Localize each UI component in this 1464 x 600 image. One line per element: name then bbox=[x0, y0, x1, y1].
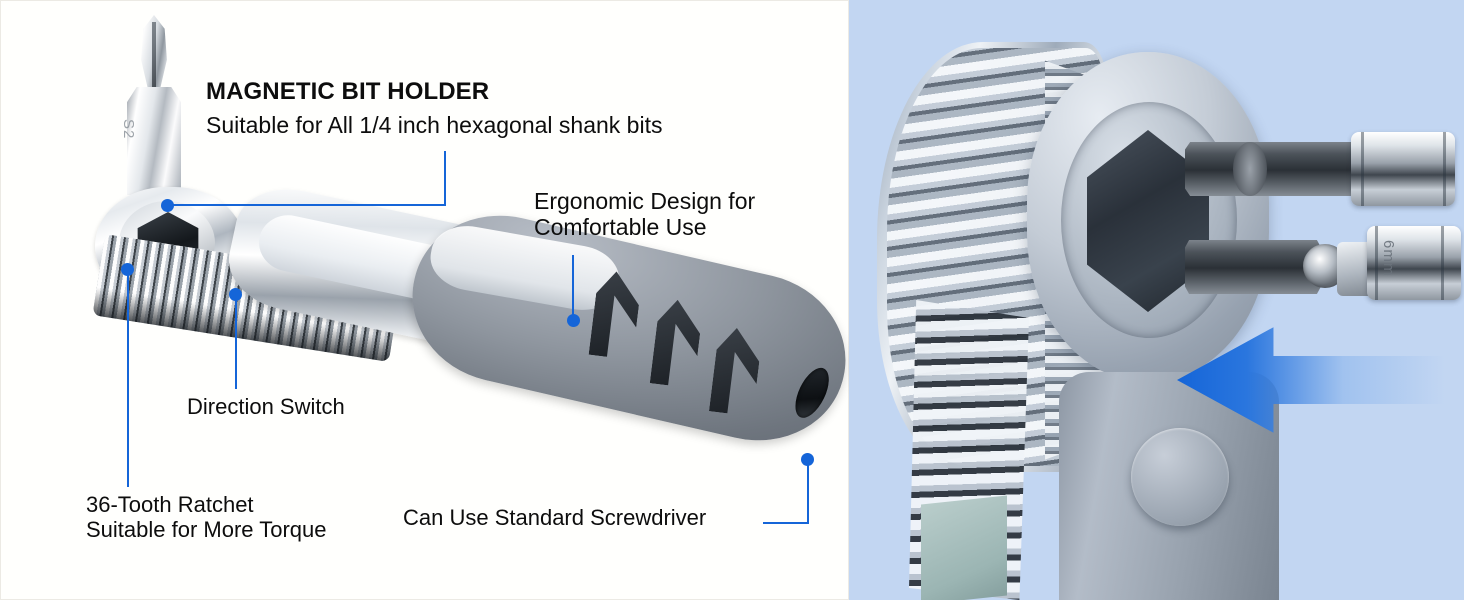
grip-chevron-1 bbox=[589, 269, 643, 360]
left-feature-panel: S2 MAGNETIC BIT HOLDER bbox=[0, 0, 849, 600]
socket-size-engraving: 6mm bbox=[1380, 240, 1397, 276]
arrow-shape bbox=[1177, 320, 1445, 440]
socket-band-2 bbox=[1441, 226, 1444, 300]
leader-line-ergonomic bbox=[572, 255, 574, 319]
leader-line-screwdriver-vertical bbox=[807, 461, 809, 523]
leader-line-screwdriver-horizontal bbox=[763, 522, 809, 524]
leader-line-bit-holder-horizontal bbox=[166, 204, 446, 206]
adapter-shank-groove bbox=[1233, 142, 1267, 196]
direction-switch-closeup bbox=[1131, 428, 1229, 526]
leader-line-tooth-ratchet bbox=[127, 273, 129, 487]
leader-line-direction-switch bbox=[235, 297, 237, 389]
screwdriver-slot bbox=[789, 363, 836, 423]
sleeve-band-1 bbox=[1361, 132, 1364, 206]
bit-steel-engraving: S2 bbox=[120, 119, 137, 139]
product-infographic: S2 MAGNETIC BIT HOLDER bbox=[0, 0, 1464, 600]
hex-shank-extension-adapter bbox=[1185, 132, 1455, 206]
callout-ergonomic-design-text: Ergonomic Design for Comfortable Use bbox=[534, 189, 755, 241]
callout-direction-switch-text: Direction Switch bbox=[187, 395, 345, 420]
blue-arrow-pointer bbox=[1177, 320, 1445, 440]
sleeve-band-2 bbox=[1443, 132, 1446, 206]
socket-band-1 bbox=[1375, 226, 1378, 300]
callout-dot-bit-holder bbox=[161, 199, 174, 212]
socket-adapter-6mm: 6mm bbox=[1185, 226, 1461, 318]
callout-dot-ergonomic bbox=[567, 314, 580, 327]
phillips-bit-illustration: S2 bbox=[121, 15, 187, 195]
adapter-hex-shank bbox=[1185, 142, 1357, 196]
leader-line-bit-holder-vertical bbox=[444, 151, 446, 205]
adapter-sleeve bbox=[1351, 132, 1455, 206]
right-detail-panel: 6mm bbox=[849, 0, 1464, 600]
handle-pad-detail bbox=[921, 495, 1007, 600]
socket-adapter-hex-shank bbox=[1185, 240, 1321, 294]
callout-standard-screwdriver-text: Can Use Standard Screwdriver bbox=[403, 506, 706, 531]
callout-magnetic-bit-holder-text: Suitable for All 1/4 inch hexagonal shan… bbox=[206, 113, 662, 139]
callout-magnetic-bit-holder-title: MAGNETIC BIT HOLDER bbox=[206, 79, 489, 106]
callout-dot-standard-screwdriver bbox=[801, 453, 814, 466]
grip-chevron-2 bbox=[650, 298, 704, 389]
bit-hex-shank bbox=[127, 87, 181, 195]
grip-chevron-3 bbox=[709, 326, 763, 417]
callout-tooth-ratchet-text: 36-Tooth Ratchet Suitable for More Torqu… bbox=[86, 493, 327, 542]
